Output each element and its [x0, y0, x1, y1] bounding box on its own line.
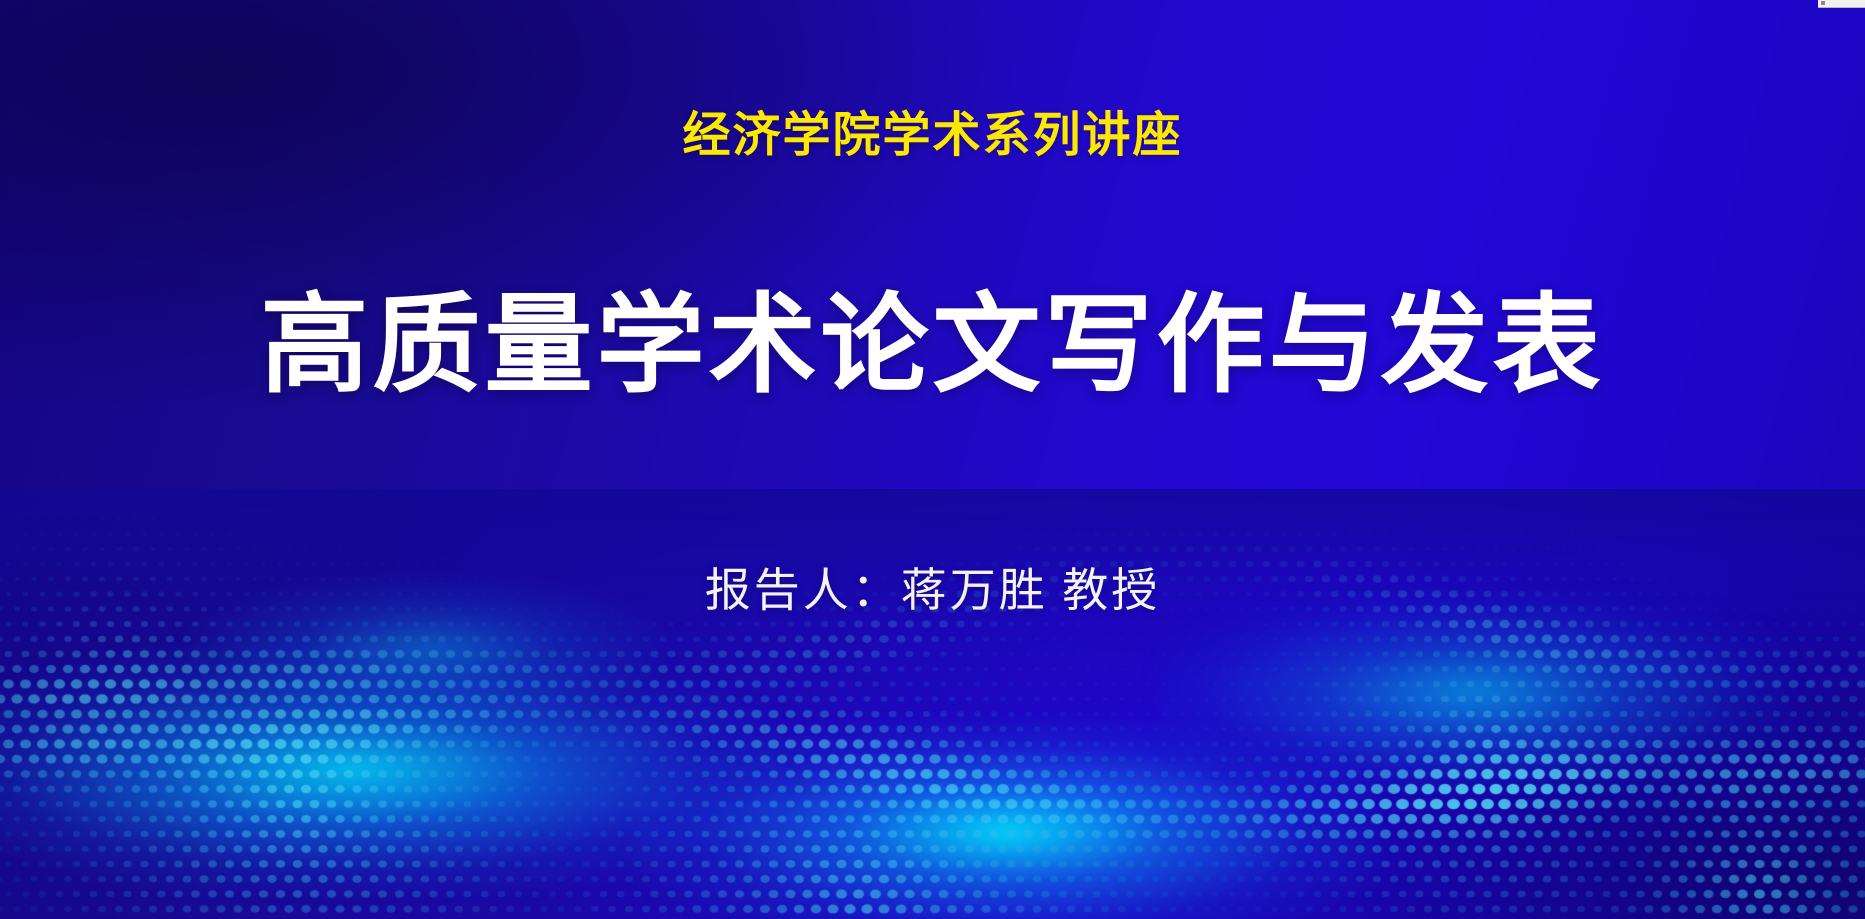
window-chrome-strip [1818, 0, 1865, 8]
lecture-title-slide: 经济学院学术系列讲座 高质量学术论文写作与发表 报告人：蒋万胜 教授 [0, 0, 1865, 919]
slide-headline-title: 高质量学术论文写作与发表 [0, 282, 1865, 407]
chrome-strip-dot-icon [1821, 1, 1825, 5]
series-eyebrow-text: 经济学院学术系列讲座 [0, 108, 1865, 165]
presenter-byline: 报告人：蒋万胜 教授 [0, 562, 1865, 620]
slide-content: 经济学院学术系列讲座 高质量学术论文写作与发表 报告人：蒋万胜 教授 [0, 0, 1865, 919]
